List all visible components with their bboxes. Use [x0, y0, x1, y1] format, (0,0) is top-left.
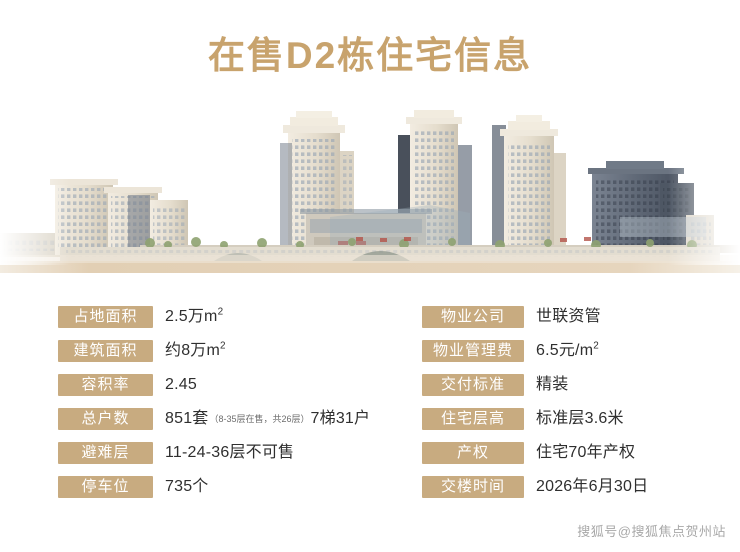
- building-area-text: 约8万m: [165, 342, 220, 359]
- info-value-total-units: 851套（8-35层在售，共26层）7梯31户: [165, 409, 370, 429]
- info-label-delivery-standard: 交付标准: [422, 374, 524, 396]
- info-label-property-company: 物业公司: [422, 306, 524, 328]
- building-area-unit-sup: 2: [220, 341, 226, 352]
- info-label-management-fee: 物业管理费: [422, 340, 524, 362]
- management-fee-unit-sup: 2: [593, 341, 599, 352]
- info-label-parking: 停车位: [58, 476, 153, 498]
- management-fee-text: 6.5元/m: [536, 342, 593, 359]
- info-row-ownership: 产权 住宅70年产权: [422, 436, 648, 470]
- info-row-delivery-standard: 交付标准 精装: [422, 368, 648, 402]
- info-value-ownership: 住宅70年产权: [536, 443, 635, 463]
- property-info-table: 占地面积 2.5万m2 建筑面积 约8万m2 容积率 2.45 总户数 851套…: [0, 300, 740, 515]
- info-label-refuge-floor: 避难层: [58, 442, 153, 464]
- info-row-floor-height: 住宅层高 标准层3.6米: [422, 402, 648, 436]
- page-root: 在售D2栋住宅信息: [0, 0, 740, 552]
- info-row-total-units: 总户数 851套（8-35层在售，共26层）7梯31户: [58, 402, 370, 436]
- info-label-plot-ratio: 容积率: [58, 374, 153, 396]
- land-area-unit-sup: 2: [218, 307, 224, 318]
- info-column-right: 物业公司 世联资管 物业管理费 6.5元/m2 交付标准 精装 住宅层高 标准层…: [422, 300, 648, 504]
- info-value-building-area: 约8万m2: [165, 341, 226, 361]
- info-row-management-fee: 物业管理费 6.5元/m2: [422, 334, 648, 368]
- total-units-note: （8-35层在售，共26层）: [209, 414, 311, 424]
- info-value-handover-date: 2026年6月30日: [536, 477, 648, 497]
- info-row-building-area: 建筑面积 约8万m2: [58, 334, 370, 368]
- info-label-ownership: 产权: [422, 442, 524, 464]
- info-row-property-company: 物业公司 世联资管: [422, 300, 648, 334]
- info-row-handover-date: 交楼时间 2026年6月30日: [422, 470, 648, 504]
- info-value-land-area: 2.5万m2: [165, 307, 223, 327]
- info-row-land-area: 占地面积 2.5万m2: [58, 300, 370, 334]
- total-units-elevator-ratio: 7梯31户: [311, 410, 371, 427]
- info-value-floor-height: 标准层3.6米: [536, 409, 624, 429]
- info-value-parking: 735个: [165, 477, 209, 497]
- info-value-refuge-floor: 11-24-36层不可售: [165, 443, 294, 463]
- info-label-building-area: 建筑面积: [58, 340, 153, 362]
- hero-skyline-image: [0, 95, 740, 280]
- info-value-plot-ratio: 2.45: [165, 375, 197, 395]
- tower-2: [492, 115, 566, 255]
- info-row-plot-ratio: 容积率 2.45: [58, 368, 370, 402]
- info-row-parking: 停车位 735个: [58, 470, 370, 504]
- land-area-text: 2.5万m: [165, 308, 218, 325]
- info-label-handover-date: 交楼时间: [422, 476, 524, 498]
- info-row-refuge-floor: 避难层 11-24-36层不可售: [58, 436, 370, 470]
- info-column-left: 占地面积 2.5万m2 建筑面积 约8万m2 容积率 2.45 总户数 851套…: [58, 300, 370, 504]
- watermark-text: 搜狐号@搜狐焦点贺州站: [577, 521, 726, 540]
- page-title: 在售D2栋住宅信息: [0, 36, 740, 77]
- info-label-land-area: 占地面积: [58, 306, 153, 328]
- info-label-floor-height: 住宅层高: [422, 408, 524, 430]
- info-value-property-company: 世联资管: [536, 307, 601, 327]
- info-value-management-fee: 6.5元/m2: [536, 341, 599, 361]
- info-value-delivery-standard: 精装: [536, 375, 568, 395]
- total-units-text: 851套: [165, 410, 209, 427]
- info-label-total-units: 总户数: [58, 408, 153, 430]
